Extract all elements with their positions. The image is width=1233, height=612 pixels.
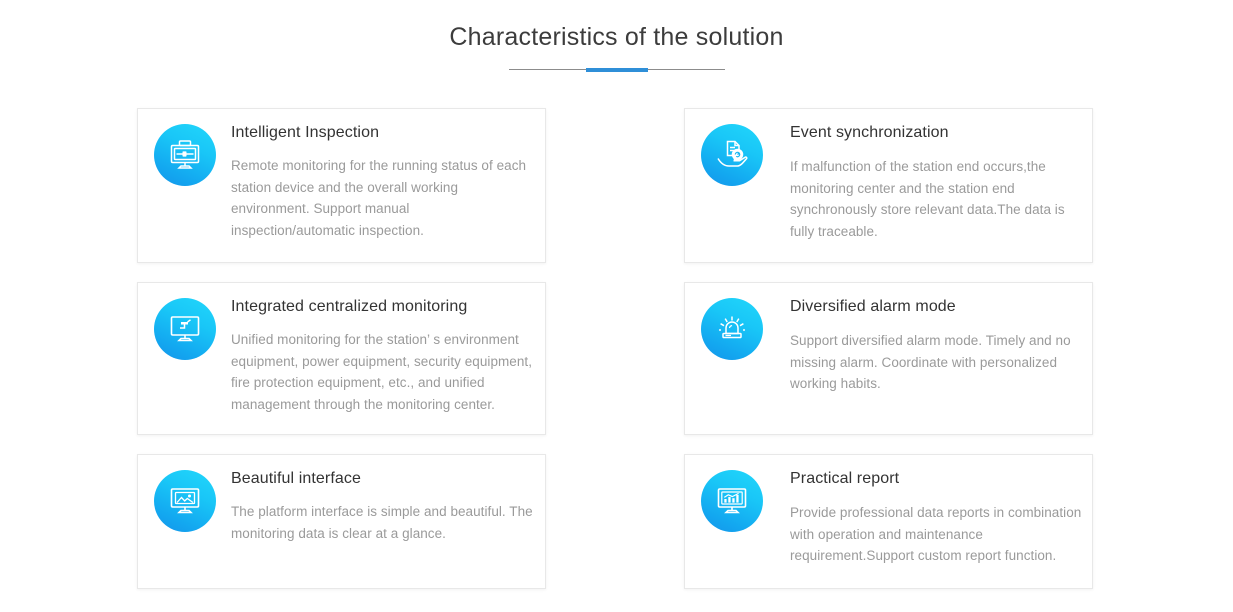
feature-card-diversified-alarm-mode[interactable]: Diversified alarm mode Support diversifi… xyxy=(684,282,1093,435)
card-text-block: Diversified alarm mode Support diversifi… xyxy=(763,283,1092,395)
card-row: Beautiful interface The platform interfa… xyxy=(137,454,1093,589)
card-text-block: Integrated centralized monitoring Unifie… xyxy=(216,283,545,415)
card-title: Intelligent Inspection xyxy=(231,122,535,144)
monitor-inspection-icon xyxy=(154,124,216,186)
monitor-centralized-icon xyxy=(154,298,216,360)
feature-card-beautiful-interface[interactable]: Beautiful interface The platform interfa… xyxy=(137,454,546,589)
title-underline-decoration xyxy=(509,66,725,74)
card-title: Practical report xyxy=(790,468,1082,490)
card-title: Beautiful interface xyxy=(231,468,535,490)
feature-card-practical-report[interactable]: Practical report Provide professional da… xyxy=(684,454,1093,589)
card-row: Integrated centralized monitoring Unifie… xyxy=(137,282,1093,435)
card-text-block: Beautiful interface The platform interfa… xyxy=(216,455,545,544)
monitor-picture-icon xyxy=(154,470,216,532)
card-description: Unified monitoring for the station’ s en… xyxy=(231,329,535,415)
card-text-block: Intelligent Inspection Remote monitoring… xyxy=(216,109,545,241)
feature-section-page: Characteristics of the solution xyxy=(0,0,1233,612)
card-description: The platform interface is simple and bea… xyxy=(231,501,535,544)
title-rule-accent xyxy=(586,68,648,72)
card-description: Provide professional data reports in com… xyxy=(790,502,1082,567)
feature-card-intelligent-inspection[interactable]: Intelligent Inspection Remote monitoring… xyxy=(137,108,546,263)
card-text-block: Event synchronization If malfunction of … xyxy=(763,109,1092,242)
feature-card-integrated-centralized-monitoring[interactable]: Integrated centralized monitoring Unifie… xyxy=(137,282,546,435)
feature-card-grid: Intelligent Inspection Remote monitoring… xyxy=(137,108,1093,589)
hand-document-sync-icon xyxy=(701,124,763,186)
feature-card-event-synchronization[interactable]: Event synchronization If malfunction of … xyxy=(684,108,1093,263)
section-header: Characteristics of the solution xyxy=(0,20,1233,74)
card-title: Event synchronization xyxy=(790,122,1082,144)
card-title: Integrated centralized monitoring xyxy=(231,296,535,318)
page-title: Characteristics of the solution xyxy=(0,20,1233,54)
card-row: Intelligent Inspection Remote monitoring… xyxy=(137,108,1093,263)
card-description: Support diversified alarm mode. Timely a… xyxy=(790,330,1082,395)
alarm-siren-icon xyxy=(701,298,763,360)
card-text-block: Practical report Provide professional da… xyxy=(763,455,1092,567)
card-description: Remote monitoring for the running status… xyxy=(231,155,535,241)
card-description: If malfunction of the station end occurs… xyxy=(790,156,1082,242)
card-title: Diversified alarm mode xyxy=(790,296,1082,318)
monitor-chart-report-icon xyxy=(701,470,763,532)
